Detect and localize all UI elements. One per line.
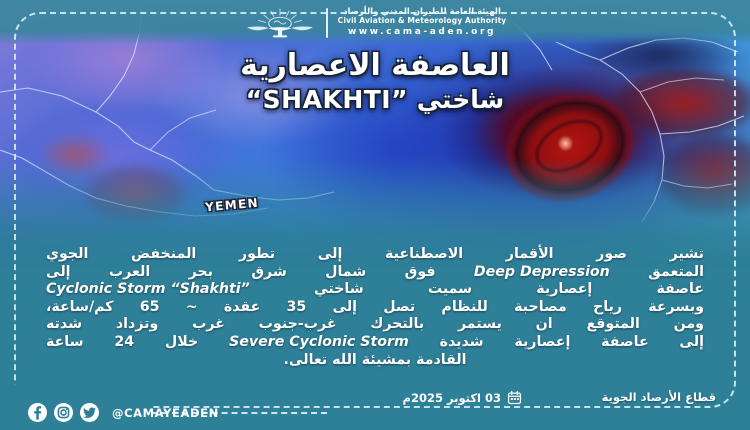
- brand-divider: [326, 8, 328, 38]
- wind-speed-knots: 35: [287, 299, 307, 317]
- wind-speed-kmh: 65: [140, 299, 160, 317]
- advisory-line-6-a: إلى عاصفة إعصارية شديدة: [440, 334, 704, 350]
- advisory-line-4-b: عقدة ~: [186, 299, 261, 315]
- advisory-line-7: القادمة بمشيئة الله تعالى.: [46, 352, 704, 370]
- social-handle[interactable]: @CAMAYEADEN: [112, 406, 219, 420]
- advisory-line-3-a: عاصفة إعصارية سميت شاختي: [314, 281, 704, 297]
- cama-winged-emblem-icon: [244, 6, 316, 40]
- header-bar: الهيئة العامة للطيران المدني والأرصاد Ci…: [0, 0, 750, 45]
- advisory-line-3: عاصفة إعصارية سميت شاختي Cyclonic Storm …: [46, 281, 704, 299]
- twitter-icon[interactable]: [80, 403, 99, 422]
- advisory-line-2-a: المتعمق: [648, 264, 704, 280]
- website-url[interactable]: www.cama-aden.org: [338, 27, 507, 38]
- advisory-line-1: تشير صور الأقمار الاصطناعية إلى تطور الم…: [46, 246, 704, 264]
- forecast-hours: 24: [114, 334, 134, 352]
- advisory-text-panel: تشير صور الأقمار الاصطناعية إلى تطور الم…: [0, 246, 750, 378]
- advisory-line-2-b: فوق شمال شرق بحر العرب إلى: [46, 264, 436, 280]
- advisory-line-6-c: ساعة: [46, 334, 84, 350]
- advisory-line-6: إلى عاصفة إعصارية شديدة Severe Cyclonic …: [46, 334, 704, 352]
- term-deep-depression: Deep Depression: [474, 264, 610, 282]
- brand-text-block: الهيئة العامة للطيران المدني والأرصاد Ci…: [338, 7, 507, 37]
- calendar-icon: [507, 390, 522, 405]
- term-cyclonic-storm: Cyclonic Storm “Shakhti”: [46, 281, 250, 299]
- advisory-line-4-c: كم/ساعة،: [46, 299, 114, 315]
- term-severe-cyclonic-storm: Severe Cyclonic Storm: [229, 334, 409, 352]
- social-links: @CAMAYEADEN: [28, 403, 219, 422]
- cyclone-advisory-poster: الهيئة العامة للطيران المدني والأرصاد Ci…: [0, 0, 750, 430]
- advisory-line-4-a: وبسرعة رياح مصاحبة للنظام تصل إلى: [332, 299, 703, 315]
- department-label: قطاع الأرصاد الجوية: [602, 390, 716, 404]
- publish-date-group: 03 اكتوبر 2025م: [403, 390, 522, 405]
- footer-bar: قطاع الأرصاد الجوية 03 اكتوبر 2025م: [0, 384, 750, 430]
- advisory-line-4: وبسرعة رياح مصاحبة للنظام تصل إلى 35 عقد…: [46, 299, 704, 317]
- brand-lockup: الهيئة العامة للطيران المدني والأرصاد Ci…: [244, 6, 507, 40]
- facebook-icon[interactable]: [28, 403, 47, 422]
- instagram-icon[interactable]: [54, 403, 73, 422]
- advisory-line-5: ومن المتوقع ان يستمر بالتحرك غرب-جنوب غر…: [46, 316, 704, 334]
- org-name-english: Civil Aviation & Meteorology Authority: [338, 17, 507, 26]
- advisory-line-6-b: خلال: [165, 334, 198, 350]
- publish-date: 03 اكتوبر 2025م: [403, 391, 501, 405]
- advisory-line-2: المتعمق Deep Depression فوق شمال شرق بحر…: [46, 264, 704, 282]
